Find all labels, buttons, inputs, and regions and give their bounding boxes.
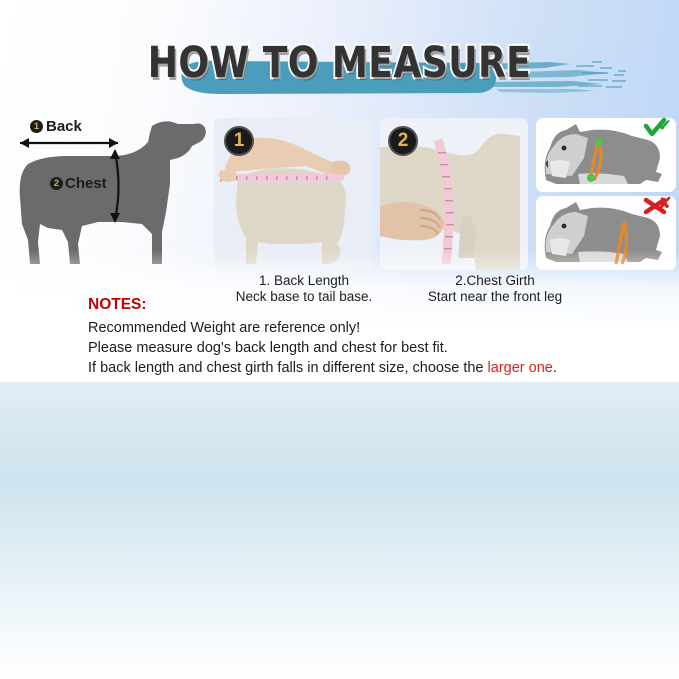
photo-chest-girth: 2 [380, 118, 528, 270]
notes-line-3: If back length and chest girth falls in … [88, 358, 668, 378]
back-label-text: Back [46, 118, 82, 135]
size-chart-infographic: HOW TO MEASURE 1 Back 2 Chest [0, 0, 679, 679]
top-section: HOW TO MEASURE 1 Back 2 Chest [0, 0, 679, 382]
chest-measure-label: 2 Chest [50, 175, 107, 192]
caption-back-line2: Neck base to tail base. [214, 289, 394, 305]
caption-chest-line1: 2.Chest Girth [400, 273, 590, 289]
notes-body: Recommended Weight are reference only! P… [88, 318, 668, 378]
notes-emphasis: larger one [488, 360, 553, 376]
step-2-badge: 2 [388, 126, 418, 156]
caption-chest-line2: Start near the front leg [400, 289, 590, 305]
notes-line-1: Recommended Weight are reference only! [88, 318, 668, 338]
chest-badge-icon: 2 [50, 177, 63, 190]
photo-back-length: 1 [214, 118, 372, 270]
page-title: HOW TO MEASURE [54, 38, 624, 88]
notes-heading: NOTES: [88, 296, 147, 314]
check-icon: ✔ [658, 118, 672, 136]
notes-line-3-pre: If back length and chest girth falls in … [88, 360, 488, 376]
back-measure-label: 1 Back [30, 118, 82, 135]
photo-correct-position: ✔ [536, 118, 676, 192]
cross-icon: ✘ [658, 196, 672, 214]
chest-label-text: Chest [65, 175, 107, 192]
size-chart-section: Size XS S M L XL 2XL 3XL 4XL Back（in） 8.… [0, 382, 679, 679]
notes-line-3-post: . [553, 360, 557, 376]
caption-chest-girth: 2.Chest Girth Start near the front leg [400, 273, 590, 305]
caption-back-line1: 1. Back Length [214, 273, 394, 289]
notes-line-2: Please measure dog's back length and che… [88, 338, 668, 358]
back-badge-icon: 1 [30, 120, 43, 133]
step-1-badge: 1 [224, 126, 254, 156]
caption-back-length: 1. Back Length Neck base to tail base. [214, 273, 394, 305]
